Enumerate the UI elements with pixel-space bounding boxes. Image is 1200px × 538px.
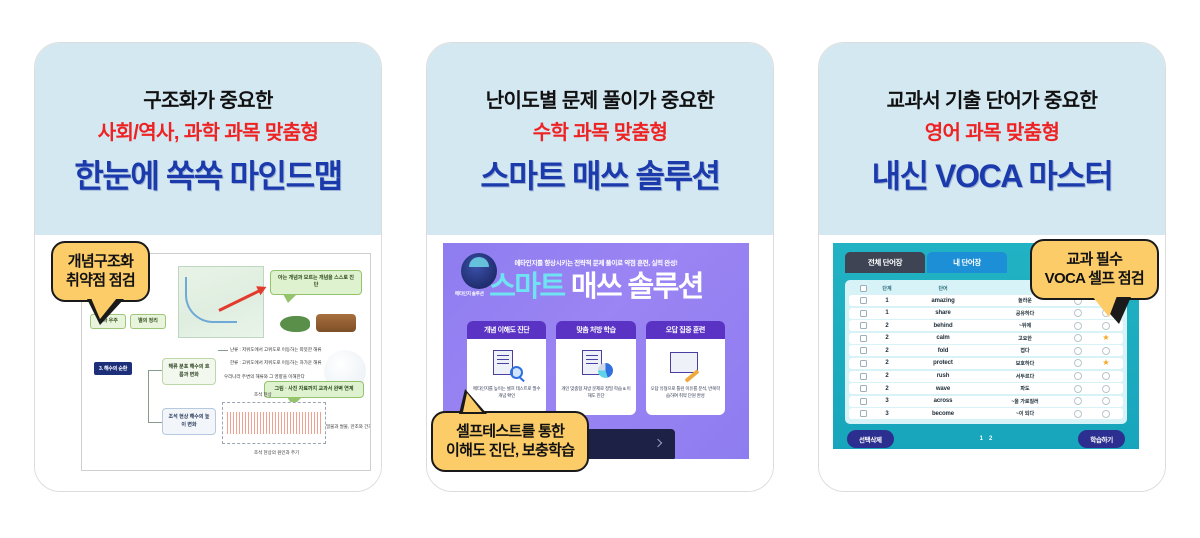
row-checkbox[interactable]	[852, 360, 874, 367]
product-card-math[interactable]: 난이도별 문제 풀이가 중요한 수학 과목 맞춤형 스마트 매쓰 솔루션 메타인…	[426, 42, 774, 492]
math-shot-title: 스마트 매쓰 솔루션	[443, 273, 749, 302]
table-row[interactable]: 2calm고요한★	[849, 333, 1123, 344]
callout-voca: 교과 필수 VOCA 셀프 점검	[1030, 239, 1159, 300]
row-known-toggle[interactable]	[1064, 397, 1092, 405]
row-known-toggle[interactable]	[1064, 372, 1092, 380]
row-checkbox[interactable]	[852, 385, 874, 392]
panel-title: 오답 집중 훈련	[646, 321, 725, 339]
row-checkbox[interactable]	[852, 398, 874, 405]
card-header-voca: 교과서 기출 단어가 중요한 영어 과목 맞춤형 내신 VOCA 마스터	[819, 43, 1165, 235]
document-magnifier-icon	[490, 348, 524, 380]
row-day: 1	[874, 298, 900, 304]
row-unknown-toggle[interactable]	[1092, 372, 1120, 380]
mindmap-bubble-diagnosis: 아는 개념과 모르는 개념을 스스로 진단	[270, 270, 362, 295]
mindmap-leaf-6: 밀물과 썰물, 만조와 간조, 조차가 나타난다	[326, 424, 371, 430]
row-known-toggle[interactable]	[1064, 322, 1092, 330]
bubble-text: 그림 · 사진 자료까지 교과서 완벽 연계	[274, 386, 353, 392]
row-meaning: 서두르다	[986, 373, 1064, 380]
mindmap-connector	[148, 370, 149, 422]
row-meaning: 고요한	[986, 335, 1064, 342]
table-row[interactable]: 2fold접다	[849, 345, 1123, 356]
mindmap-connector	[148, 370, 162, 371]
mindmap-bubble-resources: 그림 · 사진 자료까지 교과서 완벽 연계	[264, 381, 364, 398]
panel-title: 개념 이해도 진단	[467, 321, 546, 339]
promo-banner: 구조화가 중요한 사회/역사, 과학 과목 맞춤형 한눈에 쏙쏙 마인드맵 아는…	[0, 0, 1200, 538]
row-meaning: 공유하다	[986, 310, 1064, 317]
row-checkbox[interactable]	[852, 347, 874, 354]
card-subject: 수학 과목 맞춤형	[533, 121, 668, 146]
callout-line-1: 셀프테스트를 통한	[446, 422, 574, 441]
bubble-text: 아는 개념과 모르는 개념을 스스로 진단	[278, 275, 354, 288]
row-meaning: ~이 되다	[986, 410, 1064, 417]
mindmap-leaf-5: 조석 현상의 원인과 주기	[254, 450, 299, 456]
row-known-toggle[interactable]	[1064, 309, 1092, 317]
column-day: 단계	[874, 285, 900, 292]
row-day: 3	[874, 398, 900, 404]
row-unknown-toggle[interactable]	[1092, 397, 1120, 405]
row-day: 2	[874, 335, 900, 341]
mindmap-leaf-2: 한류 : 고위도에서 저위도로 이동하는 차가운 해류	[230, 360, 322, 366]
column-word: 단어	[900, 285, 986, 292]
row-day: 3	[874, 411, 900, 417]
card-body-voca: 전체 단어장 내 단어장 단계 단어 1amazing놀라운1share공유하다…	[819, 235, 1165, 492]
card-header-math: 난이도별 문제 풀이가 중요한 수학 과목 맞춤형 스마트 매쓰 솔루션	[427, 43, 773, 235]
table-row[interactable]: 2rush서두르다	[849, 371, 1123, 382]
table-row[interactable]: 3become~이 되다	[849, 408, 1123, 419]
row-unknown-toggle[interactable]	[1092, 410, 1120, 418]
tide-wave	[227, 412, 321, 434]
card-body-mindmap: 아는 개념과 모르는 개념을 스스로 진단 그림 · 사진 자료까지 교과서 완…	[35, 235, 381, 492]
mindmap-branch-1: 해류 분포 해수의 흐름과 변화	[162, 358, 216, 385]
table-row[interactable]: 1share공유하다	[849, 308, 1123, 319]
study-button[interactable]: 학습하기	[1078, 430, 1125, 448]
panel-body: 오답 유형으로 틀린 이유를 분석, 반복학습하여 취약 단원 완성	[646, 339, 725, 415]
mindmap-root-node: 3. 해수의 순환	[94, 362, 132, 375]
row-word: across	[900, 398, 986, 404]
card-subject: 사회/역사, 과학 과목 맞춤형	[98, 121, 319, 146]
panel-title: 맞춤 처방 학습	[556, 321, 635, 339]
row-word: protect	[900, 360, 986, 366]
mindmap-chip-2: 별의 정리	[130, 314, 166, 329]
row-day: 2	[874, 373, 900, 379]
callout-tail	[1095, 297, 1131, 324]
feature-panel-prescription[interactable]: 맞춤 처방 학습 개인 맞춤형 처방 문제로 정밀 학습 & 이해도 진단	[556, 321, 635, 415]
callout-math: 셀프테스트를 통한 이해도 진단, 보충학습	[431, 411, 589, 472]
panel-body: 개인 맞춤형 처방 문제로 정밀 학습 & 이해도 진단	[556, 339, 635, 415]
fish-photo	[280, 316, 310, 332]
panel-text: 개인 맞춤형 처방 문제로 정밀 학습 & 이해도 진단	[561, 385, 630, 399]
row-day: 2	[874, 386, 900, 392]
row-checkbox[interactable]	[852, 322, 874, 329]
product-card-mindmap[interactable]: 구조화가 중요한 사회/역사, 과학 과목 맞춤형 한눈에 쏙쏙 마인드맵 아는…	[34, 42, 382, 492]
row-word: calm	[900, 335, 986, 341]
row-word: behind	[900, 323, 986, 329]
voca-row-list: 1amazing놀라운1share공유하다2behind~뒤에2calm고요한★…	[849, 295, 1123, 419]
row-word: rush	[900, 373, 986, 379]
coastline-icon	[185, 277, 237, 323]
card-title: 내신 VOCA 마스터	[872, 157, 1113, 195]
callout-tail	[87, 299, 124, 325]
tab-all-wordbook[interactable]: 전체 단어장	[845, 252, 925, 273]
board-pencil-icon	[668, 348, 702, 380]
row-word: fold	[900, 348, 986, 354]
row-day: 2	[874, 323, 900, 329]
row-meaning: 보호하다	[986, 360, 1064, 367]
voca-table: 단계 단어 1amazing놀라운1share공유하다2behind~뒤에2ca…	[845, 280, 1127, 424]
mindmap-leaf-4: 조석 현상	[254, 392, 272, 398]
mindmap-branch-2: 조석 현상 해수의 높이 변화	[162, 408, 216, 435]
row-checkbox[interactable]	[852, 410, 874, 417]
callout-line-1: 개념구조화	[66, 252, 135, 271]
voca-footer: 선택삭제 1 2 학습하기	[845, 430, 1127, 448]
row-known-toggle[interactable]	[1064, 334, 1092, 342]
card-body-math: 메타인지 솔루션 메타인지를 향상시키는 전략적 문제 풀이로 약점 훈련, 실…	[427, 235, 773, 492]
row-checkbox[interactable]	[852, 310, 874, 317]
mindmap-connector	[148, 422, 162, 423]
row-checkbox[interactable]	[852, 373, 874, 380]
row-word: amazing	[900, 298, 986, 304]
mindmap-connector	[218, 350, 228, 351]
row-star-icon[interactable]: ★	[1092, 334, 1120, 342]
math-tagline: 메타인지를 향상시키는 전략적 문제 풀이로 약점 훈련, 실력 완성!	[443, 257, 749, 267]
panel-text: 오답 유형으로 틀린 이유를 분석, 반복학습하여 취약 단원 완성	[651, 385, 720, 399]
row-checkbox[interactable]	[852, 297, 874, 304]
wood-photo	[316, 314, 356, 332]
mindmap-leaf-3: 우리나라 주변의 해류와 그 영향을 이해한다	[224, 374, 305, 380]
row-meaning: ~뒤에	[986, 322, 1064, 329]
row-checkbox[interactable]	[852, 335, 874, 342]
card-header-mindmap: 구조화가 중요한 사회/역사, 과학 과목 맞춤형 한눈에 쏙쏙 마인드맵	[35, 43, 381, 235]
feature-panel-wronganswer[interactable]: 오답 집중 훈련 오답 유형으로 틀린 이유를 분석, 반복학습하여 취약 단원…	[646, 321, 725, 415]
table-row[interactable]: 2protect보호하다★	[849, 358, 1123, 369]
card-title: 스마트 매쓰 솔루션	[480, 157, 719, 195]
product-card-voca[interactable]: 교과서 기출 단어가 중요한 영어 과목 맞춤형 내신 VOCA 마스터 전체 …	[818, 42, 1166, 492]
row-day: 1	[874, 310, 900, 316]
tide-chart	[222, 402, 326, 444]
page-1[interactable]: 1	[980, 436, 983, 442]
table-row[interactable]: 3across~을 가로질러	[849, 396, 1123, 407]
page-2[interactable]: 2	[989, 436, 992, 442]
row-day: 2	[874, 360, 900, 366]
table-row[interactable]: 2behind~뒤에	[849, 320, 1123, 331]
row-known-toggle[interactable]	[1064, 410, 1092, 418]
select-all-checkbox[interactable]	[852, 285, 874, 292]
row-meaning: 파도	[986, 385, 1064, 392]
row-known-toggle[interactable]	[1064, 385, 1092, 393]
callout-line-2: 이해도 진단, 보충학습	[446, 441, 574, 460]
feature-panels: 개념 이해도 진단 메타인지를 높이는 셀프 테스트로 필수 개념 확인 맞춤 …	[467, 321, 725, 415]
row-meaning: ~을 가로질러	[986, 398, 1064, 405]
row-day: 2	[874, 348, 900, 354]
bubble-tail	[283, 294, 297, 303]
callout-line-1: 교과 필수	[1045, 250, 1144, 269]
document-chart-icon	[579, 348, 613, 380]
row-word: become	[900, 411, 986, 417]
row-word: wave	[900, 386, 986, 392]
title-part-b: 매쓰 솔루션	[571, 271, 703, 303]
row-unknown-toggle[interactable]	[1092, 347, 1120, 355]
row-star-icon[interactable]: ★	[1092, 359, 1120, 367]
row-unknown-toggle[interactable]	[1092, 385, 1120, 393]
card-title: 한눈에 쏙쏙 마인드맵	[74, 157, 341, 195]
title-part-a: 스마트	[489, 271, 564, 303]
callout-tail	[459, 389, 487, 414]
callout-line-2: VOCA 셀프 점검	[1045, 269, 1144, 288]
map-thumbnail	[178, 266, 264, 338]
row-known-toggle[interactable]	[1064, 347, 1092, 355]
callout-mindmap: 개념구조화 취약점 점검	[51, 241, 150, 302]
row-word: share	[900, 310, 986, 316]
tab-my-wordbook[interactable]: 내 단어장	[927, 252, 1007, 273]
card-eyebrow: 구조화가 중요한	[143, 89, 273, 114]
table-row[interactable]: 2wave파도	[849, 383, 1123, 394]
chevron-right-icon	[654, 439, 662, 447]
pagination[interactable]: 1 2	[980, 436, 993, 442]
row-known-toggle[interactable]	[1064, 359, 1092, 367]
delete-selected-button[interactable]: 선택삭제	[847, 430, 894, 448]
mindmap-leaf-1: 난류 : 저위도에서 고위도로 이동하는 따뜻한 해류	[230, 347, 322, 353]
callout-line-2: 취약점 점검	[66, 271, 135, 290]
card-eyebrow: 난이도별 문제 풀이가 중요한	[486, 89, 714, 114]
card-eyebrow: 교과서 기출 단어가 중요한	[887, 89, 1098, 114]
card-subject: 영어 과목 맞춤형	[925, 121, 1060, 146]
row-meaning: 접다	[986, 347, 1064, 354]
